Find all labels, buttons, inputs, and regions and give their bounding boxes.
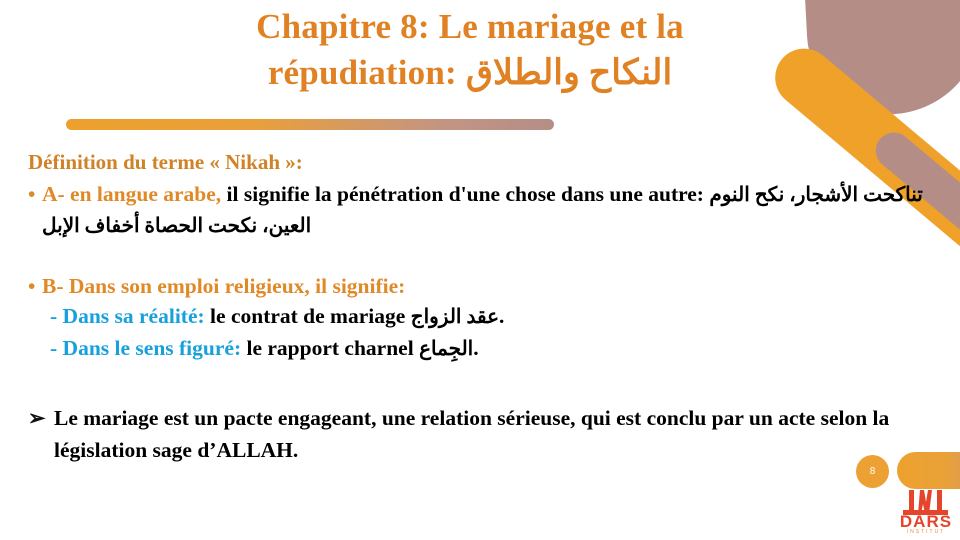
item-2-text: le rapport charnel	[246, 336, 413, 360]
item-2-arabic: الجِماع	[419, 338, 473, 360]
page-number-badge: 8	[856, 455, 889, 488]
slide-canvas: Chapitre 8: Le mariage et la répudiation…	[0, 0, 960, 540]
title-line-2-arabic: النكاح والطلاق	[466, 53, 672, 92]
slide-body: Définition du terme « Nikah »: • A- en l…	[28, 148, 928, 365]
spacer	[28, 241, 928, 271]
arrow-bullet-icon: ➢	[28, 402, 46, 434]
item-2-punct: .	[473, 336, 478, 360]
title-underline-rule	[66, 119, 554, 130]
section-b: • B- Dans son emploi religieux, il signi…	[28, 271, 928, 301]
title-line-1: Chapitre 8: Le mariage et la	[70, 4, 870, 50]
item-2-label: Dans le sens figuré:	[63, 336, 242, 360]
dash-icon: -	[50, 336, 57, 360]
item-1-text: le contrat de mariage	[210, 304, 405, 328]
section-a: • A- en langue arabe, il signifie la pén…	[28, 179, 928, 241]
item-1-punct: .	[499, 304, 504, 328]
title-line-2: répudiation: النكاح والطلاق	[70, 50, 870, 96]
dars-logo-subtitle: INSTITUT	[893, 529, 959, 535]
dars-logo: DARS INSTITUT	[893, 486, 959, 538]
conclusion-block: ➢ Le mariage est un pacte engageant, une…	[28, 402, 918, 466]
section-b-label: B- Dans son emploi religieux, il signifi…	[42, 274, 405, 298]
section-b-item-2: - Dans le sens figuré: le rapport charne…	[28, 333, 928, 365]
footer-decorative-pill	[897, 452, 960, 489]
conclusion-text: Le mariage est un pacte engageant, une r…	[28, 402, 918, 466]
slide-title: Chapitre 8: Le mariage et la répudiation…	[70, 4, 870, 96]
title-line-2-fr: répudiation:	[268, 53, 457, 92]
item-1-arabic: عقد الزواج	[411, 306, 499, 328]
section-a-label: A- en langue arabe,	[42, 182, 221, 206]
bullet-dot-icon: •	[28, 179, 35, 209]
dash-icon: -	[50, 304, 57, 328]
section-b-item-1: - Dans sa réalité: le contrat de mariage…	[28, 301, 928, 333]
item-1-label: Dans sa réalité:	[63, 304, 205, 328]
bullet-dot-icon: •	[28, 271, 35, 301]
section-a-text: il signifie la pénétration d'une chose d…	[227, 182, 704, 206]
definition-heading: Définition du terme « Nikah »:	[28, 148, 928, 176]
